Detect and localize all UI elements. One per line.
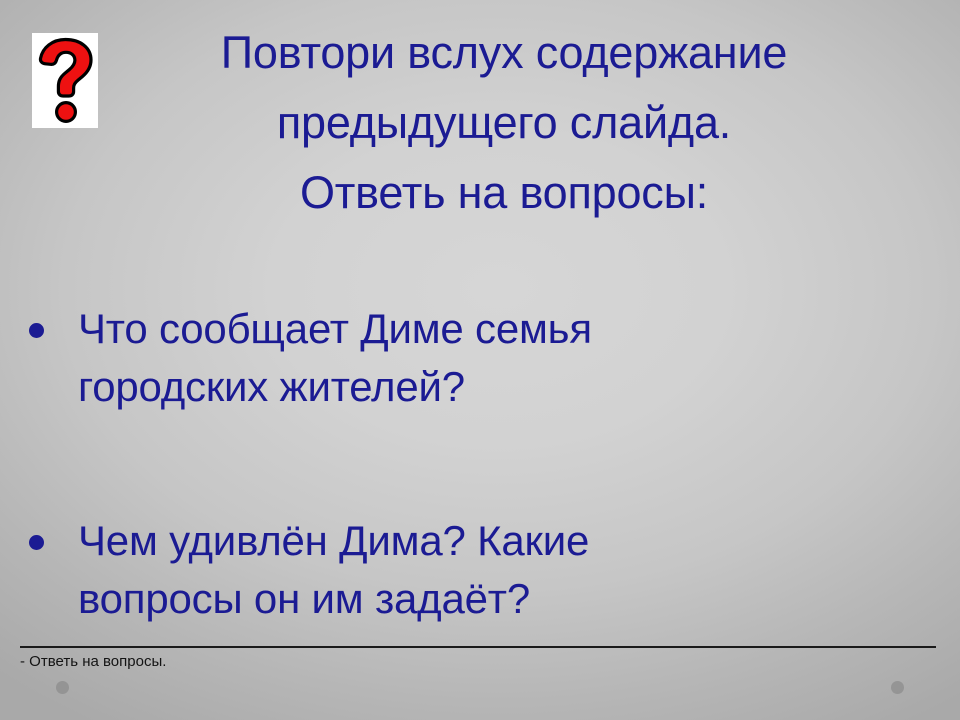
bullet-2-line-2: вопросы он им задаёт? — [78, 570, 800, 628]
bullet-2-line-1: Чем удивлён Дима? Какие — [78, 512, 800, 570]
footer-divider — [20, 646, 936, 648]
question-list: Что сообщает Диме семья городских жителе… — [0, 300, 800, 628]
title-line-2: предыдущего слайда. — [104, 88, 904, 158]
page-title: Повтори вслух содержание предыдущего сла… — [104, 18, 904, 228]
bullet-1-line-2: городских жителей? — [78, 358, 800, 416]
footer-note: - Ответь на вопросы. — [20, 652, 166, 672]
slide-canvas: Повтори вслух содержание предыдущего сла… — [0, 0, 960, 720]
title-line-1: Повтори вслух содержание — [104, 18, 904, 88]
bullet-dot-icon — [29, 323, 44, 338]
decorative-dot-right-icon — [891, 681, 904, 694]
question-mark-icon — [32, 33, 98, 128]
title-line-3: Ответь на вопросы: — [104, 158, 904, 228]
bullet-dot-icon — [29, 535, 44, 550]
list-item: Чем удивлён Дима? Какие вопросы он им за… — [0, 512, 800, 628]
decorative-dot-left-icon — [56, 681, 69, 694]
bullet-1-line-1: Что сообщает Диме семья — [78, 300, 800, 358]
list-item: Что сообщает Диме семья городских жителе… — [0, 300, 800, 416]
question-mark-glyph — [32, 33, 98, 128]
